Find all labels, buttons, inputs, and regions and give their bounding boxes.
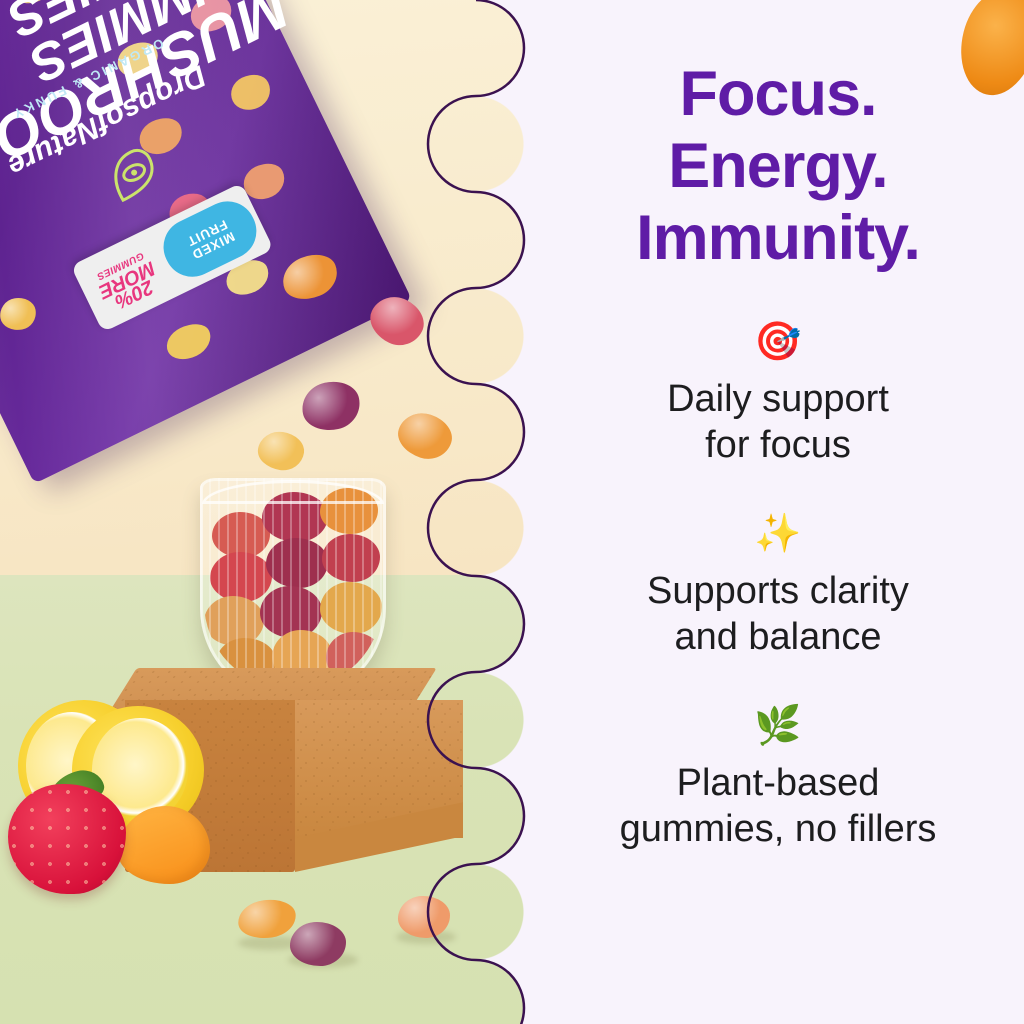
herb-leaf-icon: 🌿 [532, 704, 1024, 748]
benefit-plant-line-2: gummies, no fillers [532, 806, 1024, 852]
headline: Focus. Energy. Immunity. [636, 58, 920, 274]
benefit-clarity-line-1: Supports clarity [532, 568, 1024, 614]
headline-line-2: Energy. [636, 130, 920, 202]
product-photo-panel: MUSHROOM GUMMIES GUMMIES ORGANIC & FUNKY… [0, 0, 530, 1024]
dartboard-target-icon: 🎯 [532, 320, 1024, 364]
benefit-focus-line-2: for focus [532, 422, 1024, 468]
glass-jar [200, 478, 386, 700]
headline-line-3: Immunity. [636, 202, 920, 274]
benefit-text-plant-based: Plant-based gummies, no fillers [532, 760, 1024, 852]
headline-line-1: Focus. [636, 58, 920, 130]
benefit-item-focus: 🎯 Daily support for focus [532, 320, 1024, 468]
marketing-copy-column: Focus. Energy. Immunity. 🎯 Daily support… [532, 0, 1024, 1024]
strawberry-seeds [8, 784, 126, 894]
benefit-plant-line-1: Plant-based [532, 760, 1024, 806]
benefits-list: 🎯 Daily support for focus ✨ Supports cla… [532, 320, 1024, 896]
strawberry [8, 784, 126, 894]
sparkles-icon: ✨ [532, 512, 1024, 556]
surface-gummy [398, 896, 450, 938]
benefit-item-plant-based: 🌿 Plant-based gummies, no fillers [532, 704, 1024, 852]
benefit-text-clarity: Supports clarity and balance [532, 568, 1024, 660]
benefit-clarity-line-2: and balance [532, 614, 1024, 660]
benefit-item-clarity: ✨ Supports clarity and balance [532, 512, 1024, 660]
ad-creative-canvas: MUSHROOM GUMMIES GUMMIES ORGANIC & FUNKY… [0, 0, 1024, 1024]
surface-gummy [290, 922, 346, 966]
jar-ribbing [200, 478, 386, 700]
cork-block-side [295, 700, 463, 838]
benefit-focus-line-1: Daily support [532, 376, 1024, 422]
cork-texture [295, 700, 463, 838]
benefit-text-focus: Daily support for focus [532, 376, 1024, 468]
